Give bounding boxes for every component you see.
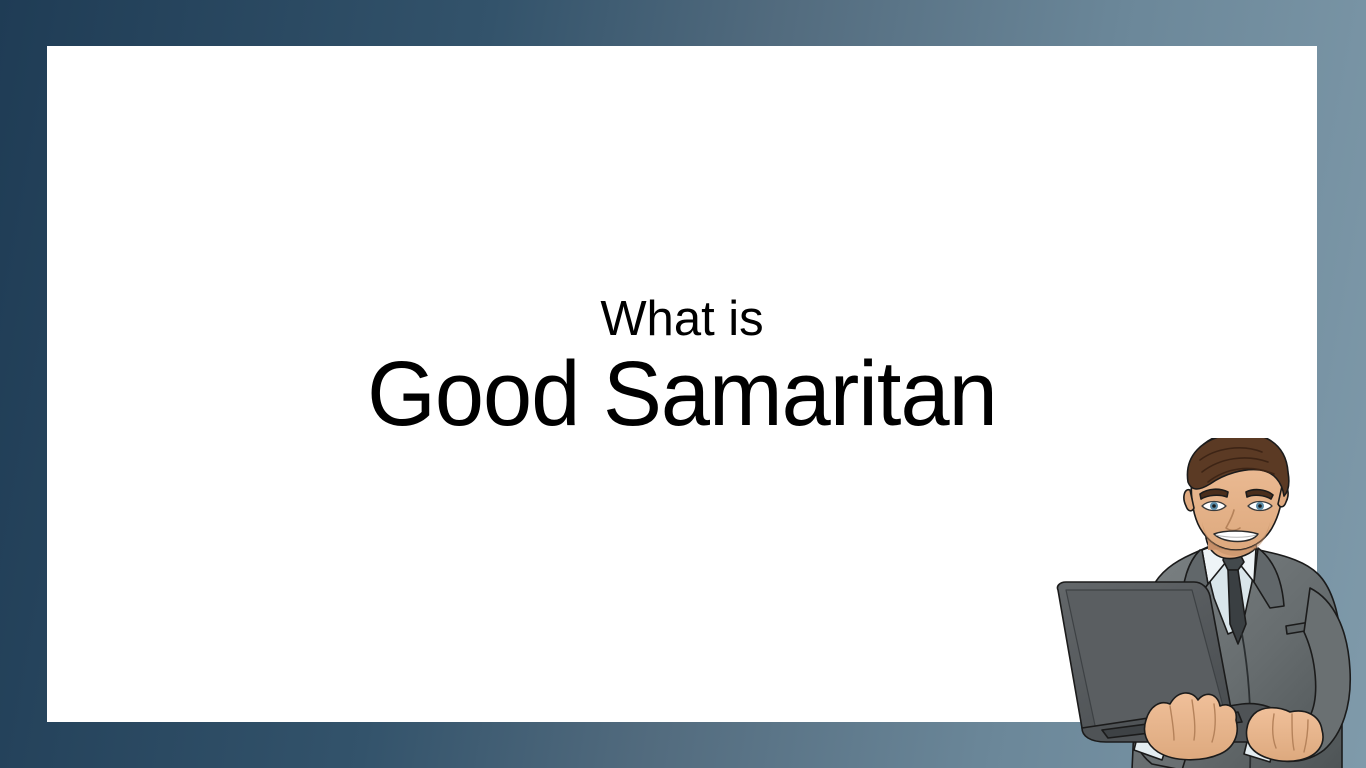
eye-left [1202,502,1226,511]
eye-right [1248,502,1272,511]
title-line-secondary: Good Samaritan [72,346,1291,443]
businessman-with-laptop-illustration [1042,438,1366,768]
title-line-primary: What is [47,294,1317,346]
slide-canvas: What is Good Samaritan [0,0,1366,768]
right-hand [1247,708,1323,762]
